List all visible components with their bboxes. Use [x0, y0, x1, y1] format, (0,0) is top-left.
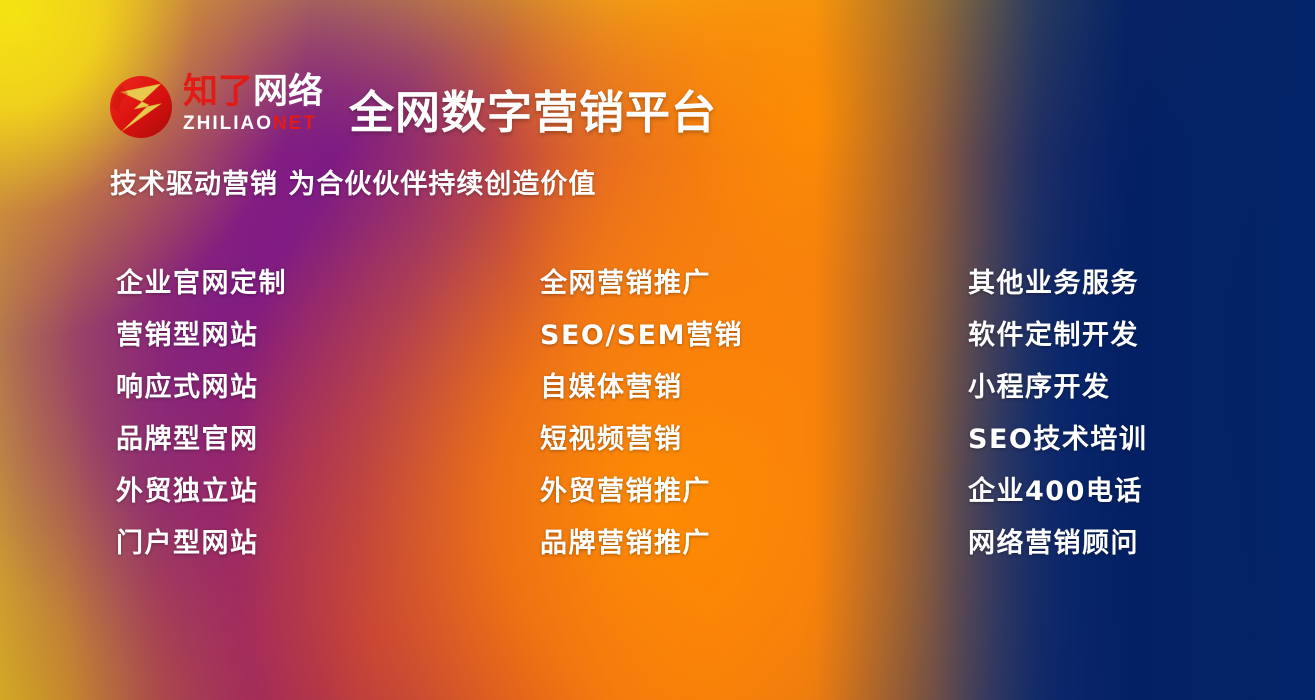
- service-item[interactable]: 全网营销推广: [540, 258, 743, 310]
- page-title: 全网数字营销平台: [349, 76, 717, 141]
- service-column-marketing: 全网营销推广 SEO/SEM营销 自媒体营销 短视频营销 外贸营销推广 品牌营销…: [540, 258, 743, 570]
- brand-name-en: ZHILIAONET: [183, 114, 323, 133]
- service-column-other: 其他业务服务 软件定制开发 小程序开发 SEO技术培训 企业400电话 网络营销…: [968, 258, 1147, 570]
- service-item[interactable]: 外贸独立站: [116, 466, 287, 518]
- service-item[interactable]: 门户型网站: [116, 518, 287, 570]
- marketing-poster: 知了网络 ZHILIAONET 全网数字营销平台 技术驱动营销 为合伙伙伴持续创…: [0, 0, 1315, 700]
- service-item[interactable]: 企业官网定制: [116, 258, 287, 310]
- brand-name-cn-red: 知了: [183, 72, 253, 112]
- service-item[interactable]: SEO/SEM营销: [540, 310, 743, 362]
- service-column-website: 企业官网定制 营销型网站 响应式网站 品牌型官网 外贸独立站 门户型网站: [116, 258, 287, 570]
- page-subtitle: 技术驱动营销 为合伙伙伴持续创造价值: [110, 162, 596, 201]
- poster-header: 知了网络 ZHILIAONET 全网数字营销平台: [108, 72, 717, 141]
- brand-logo[interactable]: 知了网络 ZHILIAONET: [108, 73, 323, 140]
- brand-name-en-red: NET: [273, 113, 317, 134]
- zhiliao-z-circle-logo-icon: [108, 74, 174, 140]
- service-item[interactable]: 网络营销顾问: [968, 518, 1147, 570]
- service-item[interactable]: 品牌型官网: [116, 414, 287, 466]
- service-item[interactable]: 其他业务服务: [968, 258, 1147, 310]
- service-columns: 企业官网定制 营销型网站 响应式网站 品牌型官网 外贸独立站 门户型网站 全网营…: [0, 258, 1315, 578]
- service-item[interactable]: 营销型网站: [116, 310, 287, 362]
- service-item[interactable]: 软件定制开发: [968, 310, 1147, 362]
- brand-name-cn-white: 网络: [253, 72, 323, 112]
- service-item[interactable]: 品牌营销推广: [540, 518, 743, 570]
- brand-wordmark: 知了网络 ZHILIAONET: [183, 73, 323, 133]
- poster-content: 知了网络 ZHILIAONET 全网数字营销平台 技术驱动营销 为合伙伙伴持续创…: [0, 0, 1315, 700]
- service-item[interactable]: 企业400电话: [968, 466, 1147, 518]
- service-item[interactable]: 小程序开发: [968, 362, 1147, 414]
- service-item[interactable]: 外贸营销推广: [540, 466, 743, 518]
- service-item[interactable]: 短视频营销: [540, 414, 743, 466]
- brand-name-en-white: ZHILIAO: [183, 113, 273, 134]
- brand-name-cn: 知了网络: [183, 75, 323, 111]
- service-item[interactable]: SEO技术培训: [968, 414, 1147, 466]
- service-item[interactable]: 响应式网站: [116, 362, 287, 414]
- service-item[interactable]: 自媒体营销: [540, 362, 743, 414]
